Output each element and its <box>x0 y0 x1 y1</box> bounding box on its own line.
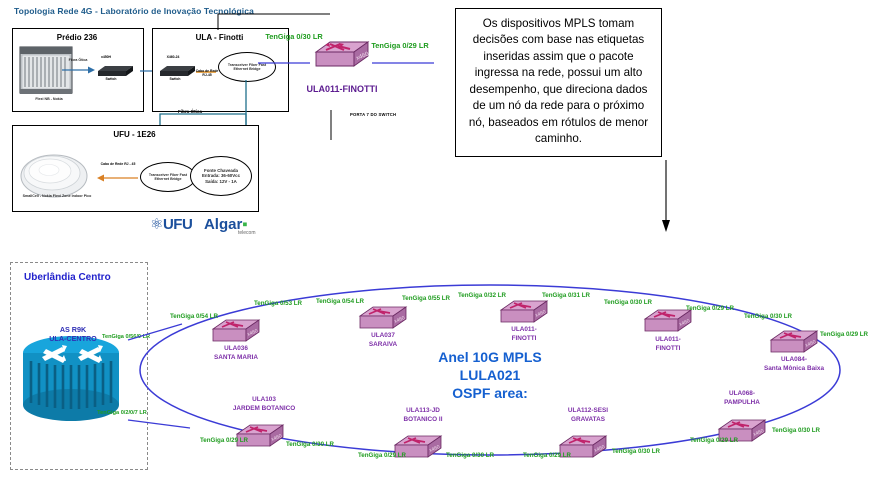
flexi-nb-chassis-icon <box>18 44 98 114</box>
ring-node-n6-name1: ULA068- <box>702 390 782 398</box>
lab-top-rail <box>218 8 438 34</box>
ring-node-n2-port-right: TenGiga 0/55 LR <box>400 295 452 302</box>
logo-row: ⚛UFU Algar▪ telecom <box>150 215 248 234</box>
ring-title-line2: LULA021 <box>395 366 585 384</box>
ring-node-n8-name2: BOTANICO II <box>378 416 468 424</box>
ring-node-n9-name2: JARDEM BOTANICO <box>216 405 312 413</box>
ufu-1e26-title: UFU - 1E26 <box>12 130 257 139</box>
callout-down-arrow <box>660 160 674 240</box>
psu-ellipse: Fonte Chaveada Entrada: 36-60Vcc Saída: … <box>190 156 252 196</box>
predio-switch-icon <box>96 62 136 78</box>
ring-node-n5-port-right: TenGiga 0/29 LR <box>818 331 870 338</box>
ring-node-n3-name2: FINOTTI <box>484 335 564 343</box>
ring-node-n7-port-right: TenGiga 0/30 LR <box>610 448 662 455</box>
asr9k-router-icon <box>18 335 128 435</box>
ring-node-n5-name2: Santa Mônica Baixa <box>744 365 844 373</box>
ring-node-n6-port-right: TenGiga 0/30 LR <box>770 427 822 434</box>
ring-node-n8-name1: ULA113-JD <box>378 407 468 415</box>
ufu-cable-arrow-icon <box>96 172 140 184</box>
ula-cable-label: Cabo de Rede RJ-45 <box>194 70 220 78</box>
ring-node-n5-name1: ULA084- <box>744 356 844 364</box>
ufu-transceiver-label: Transceiver Fiber Fast Ethernet Bridge <box>145 173 191 181</box>
top-switch-right-port: TenGiga 0/29 LR <box>368 42 432 51</box>
ring-node-n6-port-left: TenGiga 0/29 LR <box>688 437 740 444</box>
ring-title-line1: Anel 10G MPLS <box>395 348 585 366</box>
top-switch-name: ULA011-FINOTTI <box>288 84 396 95</box>
flexi-nb-label: Flexi NB - Nokia <box>14 97 84 101</box>
top-switch-down-link <box>325 110 339 230</box>
ring-node-n2-port-left: TenGiga 0/54 LR <box>314 298 366 305</box>
ring-node-n9-port-left: TenGiga 0/29 LR <box>198 437 250 444</box>
ring-node-n4-name1: ULA011- <box>628 336 708 344</box>
ring-node-n9-name1: ULA103 <box>216 396 312 404</box>
ring-title-line3: OSPF area: <box>395 384 585 402</box>
ring-node-n1-name1: ULA036 <box>196 345 276 353</box>
predio-switch-label: Switch <box>92 78 130 82</box>
uberlandia-centro-title: Uberlândia Centro <box>24 272 111 283</box>
ufu-logo: ⚛UFU <box>150 216 196 233</box>
ring-node-n2-name2: SARAIVA <box>343 341 423 349</box>
ring-node-n5-port-left: TenGiga 0/30 LR <box>742 313 794 320</box>
ring-node-n7-name1: ULA112-SESI <box>543 407 633 415</box>
ring-node-n8-port-left: TenGiga 0/29 LR <box>356 452 408 459</box>
ring-node-n3-name1: ULA011- <box>484 326 564 334</box>
ring-node-n8-port-right: TenGiga 0/30 LR <box>444 452 496 459</box>
ring-node-n2-name1: ULA037 <box>343 332 423 340</box>
ula-switch-label: Switch <box>156 78 194 82</box>
ula-switch-model: X460-24 <box>154 56 192 60</box>
ring-node-n9-port-right: TenGiga 0/30 LR <box>284 441 336 448</box>
ufu-cable-label: Cabo de Rede RJ - 45 <box>96 163 140 167</box>
ring-title: Anel 10G MPLS LULA021 OSPF area: <box>395 348 585 403</box>
ufu-transceiver-ellipse: Transceiver Fiber Fast Ethernet Bridge <box>140 162 196 192</box>
top-switch-right-link <box>372 55 462 81</box>
mpls-callout: Os dispositivos MPLS tomam decisões com … <box>455 8 662 157</box>
ring-node-n4-port-left: TenGiga 0/30 LR <box>602 299 654 306</box>
ring-node-n3-port-left: TenGiga 0/32 LR <box>456 292 508 299</box>
algar-logo-sub: telecom <box>238 230 256 236</box>
porta-7-note: PORTA 7 DO SWITCH <box>350 112 396 117</box>
ring-node-n1-port-left: TenGiga 0/54 LR <box>168 313 220 320</box>
ring-node-n4-port-right: TenGiga 0/29 LR <box>684 305 736 312</box>
predio-236-title: Prédio 236 <box>12 33 142 42</box>
fiber-otica-label: Fibra Ótica <box>160 109 220 114</box>
ring-node-n1-port-right: TenGiga 0/53 LR <box>252 300 304 307</box>
psu-label: Fonte Chaveada Entrada: 36-60Vcc Saída: … <box>195 168 247 184</box>
smallcell-label: SmallCell - Nokia Flexi Zone Indoor Pico <box>12 194 102 198</box>
ring-node-n7-name2: GRAVATAS <box>543 416 633 424</box>
ring-node-n4-name2: FINOTTI <box>628 345 708 353</box>
predio-switch-model: x450H <box>88 56 124 60</box>
ring-node-n7-port-left: TenGiga 0/29 LR <box>521 452 573 459</box>
predio-fiber-arrow-icon <box>62 64 96 76</box>
ring-node-n1-name2: SANTA MARIA <box>196 354 276 362</box>
ula-switch-icon <box>158 62 198 78</box>
ring-node-n6-name2: PAMPULHA <box>702 399 782 407</box>
ring-node-n3-port-right: TenGiga 0/31 LR <box>540 292 592 299</box>
